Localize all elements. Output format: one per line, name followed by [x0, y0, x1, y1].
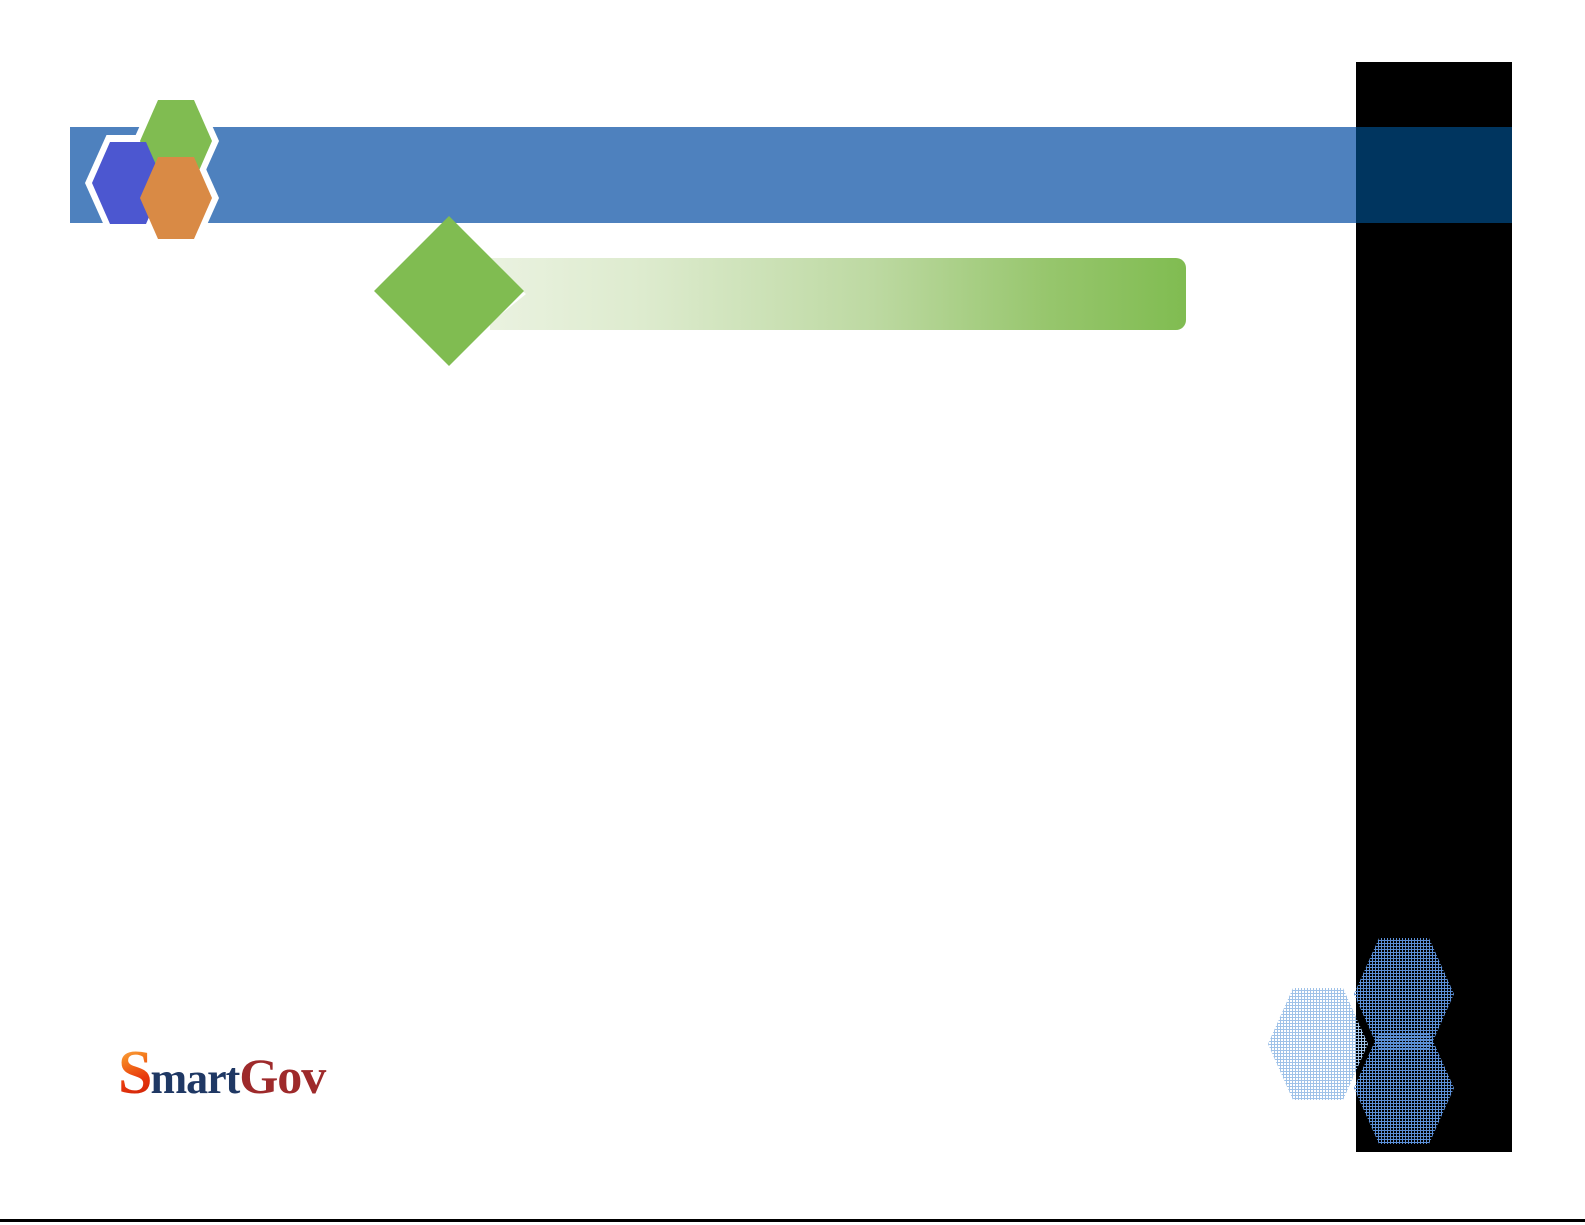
footer-rule — [0, 1219, 1585, 1222]
hexagon-cluster-logo — [88, 96, 238, 241]
smartgov-logo-part-three: Gov — [239, 1051, 325, 1101]
slide-title — [250, 127, 1330, 223]
smartgov-logo-initial: S — [118, 1042, 152, 1104]
title-bar-sidebar-overlap — [1356, 127, 1512, 223]
slide-subtitle — [530, 258, 1170, 330]
slide-body-content — [120, 380, 1300, 980]
dither-hexagon-left-icon — [1268, 988, 1368, 1100]
smartgov-logo: S mart Gov — [118, 1042, 325, 1104]
smartgov-logo-part-two: mart — [150, 1057, 239, 1101]
slide-canvas: S mart Gov — [0, 0, 1585, 1225]
subtitle-diamond-icon — [374, 216, 524, 366]
